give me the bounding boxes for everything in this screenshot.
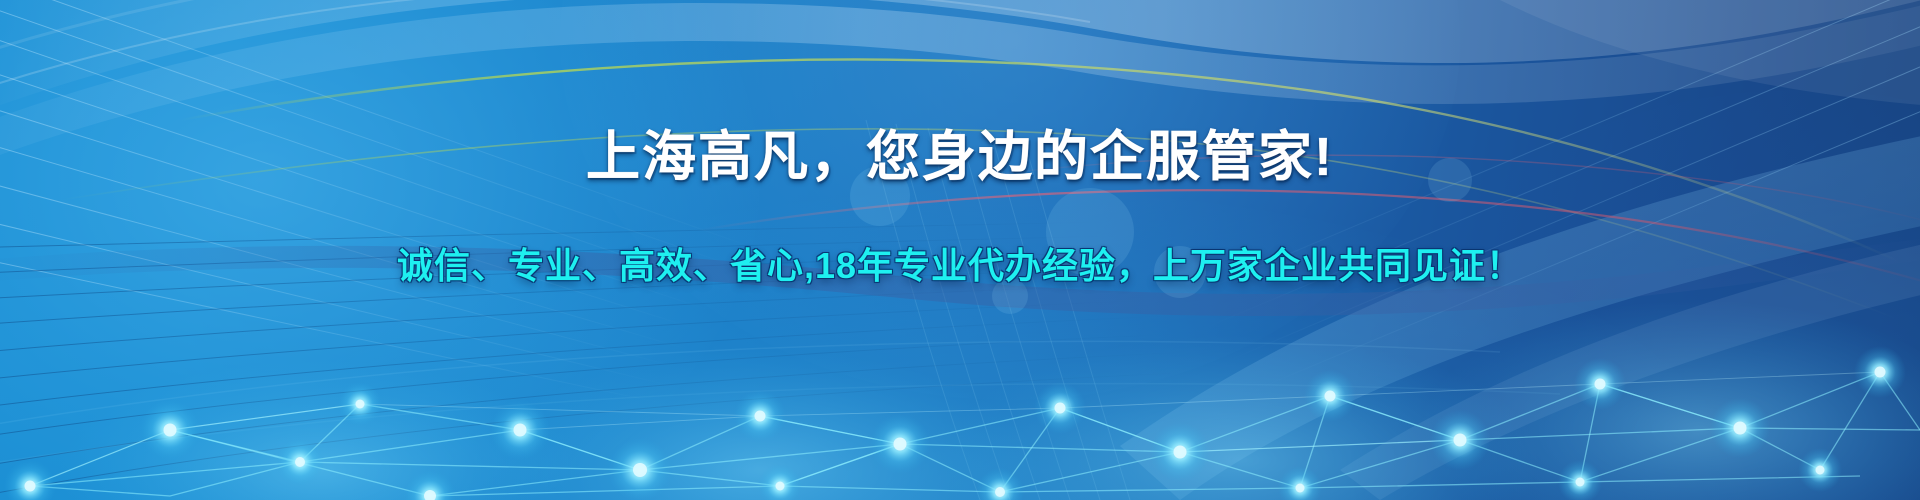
banner-subheadline: 诚信、专业、高效、省心,18年专业代办经验，上万家企业共同见证！ xyxy=(397,237,1523,289)
hero-banner: 上海高凡，您身边的企服管家! 诚信、专业、高效、省心,18年专业代办经验，上万家… xyxy=(0,0,1920,500)
banner-text-block: 上海高凡，您身边的企服管家! 诚信、专业、高效、省心,18年专业代办经验，上万家… xyxy=(0,0,1920,500)
banner-headline: 上海高凡，您身边的企服管家! xyxy=(586,112,1334,191)
